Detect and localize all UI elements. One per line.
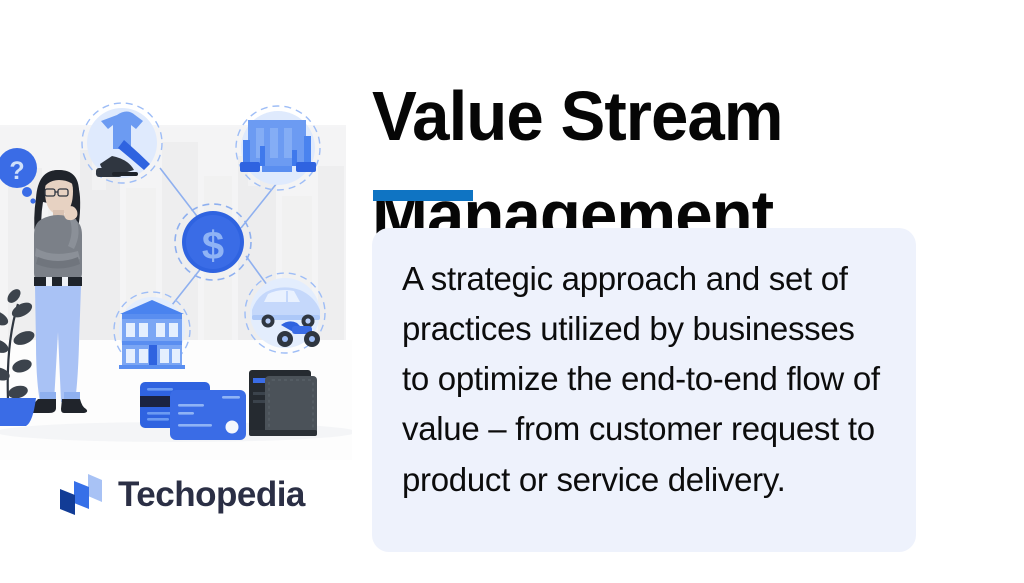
techopedia-logo[interactable]: Techopedia: [58, 472, 305, 516]
definition-text: A strategic approach and set of practice…: [402, 254, 886, 505]
value-network-illustration: $: [0, 0, 352, 460]
infographic-card: $: [0, 0, 1024, 583]
title-accent-bar: [373, 190, 473, 201]
illustration-panel: $: [0, 0, 352, 460]
techopedia-logo-mark: [58, 472, 104, 516]
definition-callout: A strategic approach and set of practice…: [372, 228, 916, 552]
wallet-icon: [249, 370, 317, 436]
svg-text:?: ?: [9, 157, 24, 185]
svg-text:$: $: [202, 224, 224, 268]
node-bank-icon: [114, 292, 190, 369]
techopedia-wordmark: Techopedia: [118, 477, 305, 512]
center-node-dollar-icon: $: [175, 204, 251, 280]
content-column: Value Stream Management (VSM) A strategi…: [372, 0, 1020, 583]
